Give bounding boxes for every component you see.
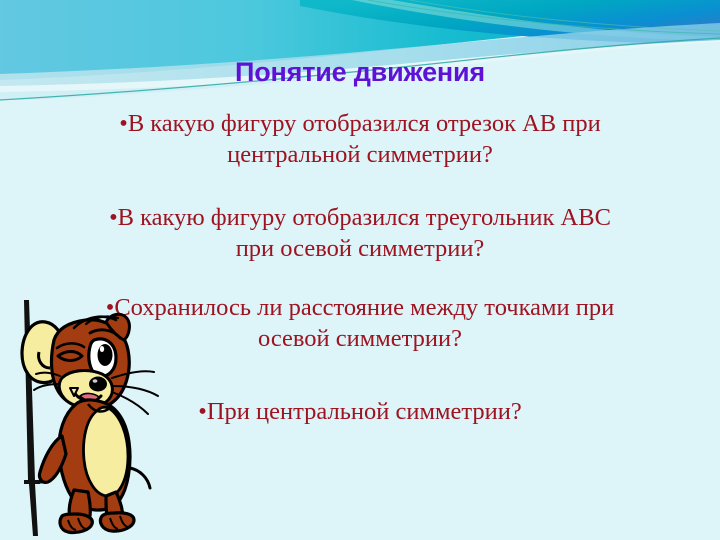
bullet-1-line-2: центральной симметрии?: [40, 139, 680, 170]
header-base: [0, 0, 720, 110]
bullet-spacer-1: [40, 170, 680, 202]
jerry-mouse-illustration: [2, 292, 178, 540]
jerry-eye-right-glint: [100, 346, 104, 352]
jerry-belly: [84, 407, 128, 496]
bullet-1-line-1: •В какую фигуру отобразился отрезок АВ п…: [40, 108, 680, 139]
bullet-glyph: •: [198, 398, 207, 425]
jerry-eye-right-pupil: [98, 344, 113, 366]
bullet-glyph: •: [109, 204, 118, 231]
bullet-2-line-1-text: В какую фигуру отобразился треугольник А…: [118, 204, 611, 231]
header-wave-decoration: [0, 0, 720, 110]
wave-teal-hairline-4: [410, 0, 720, 31]
bullet-spacer-2: [40, 264, 680, 292]
bullet-4-line-1-text: При центральной симметрии?: [207, 398, 522, 425]
bullet-2-line-2: при осевой симметрии?: [40, 233, 680, 264]
jerry-nose: [89, 377, 107, 392]
jerry-tail: [130, 468, 150, 488]
bullet-2-line-1: •В какую фигуру отобразился треугольник …: [40, 202, 680, 233]
jerry-foot-left: [60, 514, 92, 533]
page-title: Понятие движения: [0, 56, 720, 88]
bullet-1-line-1-text: В какую фигуру отобразился отрезок АВ пр…: [128, 110, 601, 137]
wave-teal-hairline-3: [368, 0, 720, 34]
slide-canvas: Понятие движения •В какую фигуру отобраз…: [0, 0, 720, 540]
wave-highlight-streak: [352, 0, 720, 41]
jerry-eye-left-wink: [58, 352, 82, 361]
wave-deep-teal: [300, 0, 720, 44]
jerry-nose-glint: [93, 379, 98, 383]
bullet-3-line-1-text: Сохранилось ли расстояние между точками …: [114, 294, 614, 321]
bullet-glyph: •: [119, 110, 128, 137]
